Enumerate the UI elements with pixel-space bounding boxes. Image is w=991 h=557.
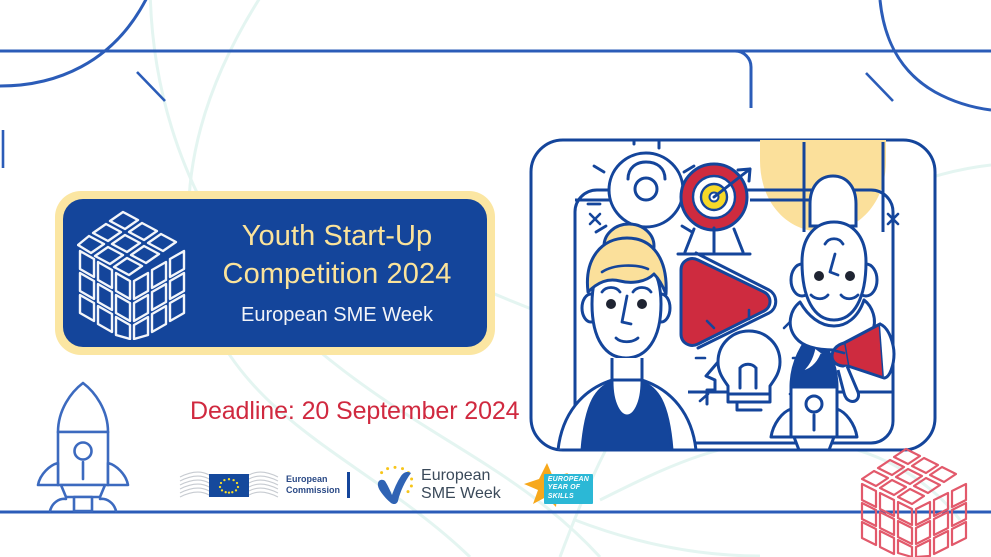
blue-hand-check-with-eu-stars-icon xyxy=(373,464,417,506)
ec-label-line2: Commission xyxy=(286,485,340,496)
banner-canvas: Youth Start-Up Competition 2024 European… xyxy=(0,0,991,557)
outlined-rocket-icon xyxy=(28,380,138,515)
ec-label-line1: European xyxy=(286,474,340,485)
european-sme-week-label: European SME Week xyxy=(417,467,501,503)
eys-label-line2: YEAR OF xyxy=(548,484,589,492)
eys-label-line1: EUROPEAN xyxy=(548,476,589,484)
european-sme-week-logo: European SME Week xyxy=(373,461,501,509)
logo-divider xyxy=(347,472,350,498)
deadline-text: Deadline: 20 September 2024 xyxy=(190,397,519,426)
logo-row: European Commission xyxy=(178,461,585,509)
european-year-of-skills-logo: EUROPEAN YEAR OF SKILLS xyxy=(523,461,585,509)
badge-title-line1: Youth Start-Up xyxy=(242,218,433,255)
eys-text-badge: EUROPEAN YEAR OF SKILLS xyxy=(544,474,593,504)
competition-badge: Youth Start-Up Competition 2024 European… xyxy=(55,191,495,355)
european-commission-logo: European Commission xyxy=(178,461,350,509)
youth-entrepreneurship-illustration xyxy=(528,132,938,458)
eys-label-line3: SKILLS xyxy=(548,493,589,501)
sme-label-line2: SME Week xyxy=(421,485,501,503)
badge-title-line2: Competition 2024 xyxy=(223,256,452,293)
red-wireframe-cube-icon xyxy=(858,443,986,557)
european-commission-label: European Commission xyxy=(280,474,340,497)
eu-flag-icon xyxy=(178,468,280,502)
sme-label-line1: European xyxy=(421,467,501,485)
rubiks-cube-icon xyxy=(77,206,197,340)
badge-text-block: Youth Start-Up Competition 2024 European… xyxy=(201,218,473,327)
badge-inner-panel: Youth Start-Up Competition 2024 European… xyxy=(63,199,487,347)
badge-subtitle: European SME Week xyxy=(241,302,433,328)
